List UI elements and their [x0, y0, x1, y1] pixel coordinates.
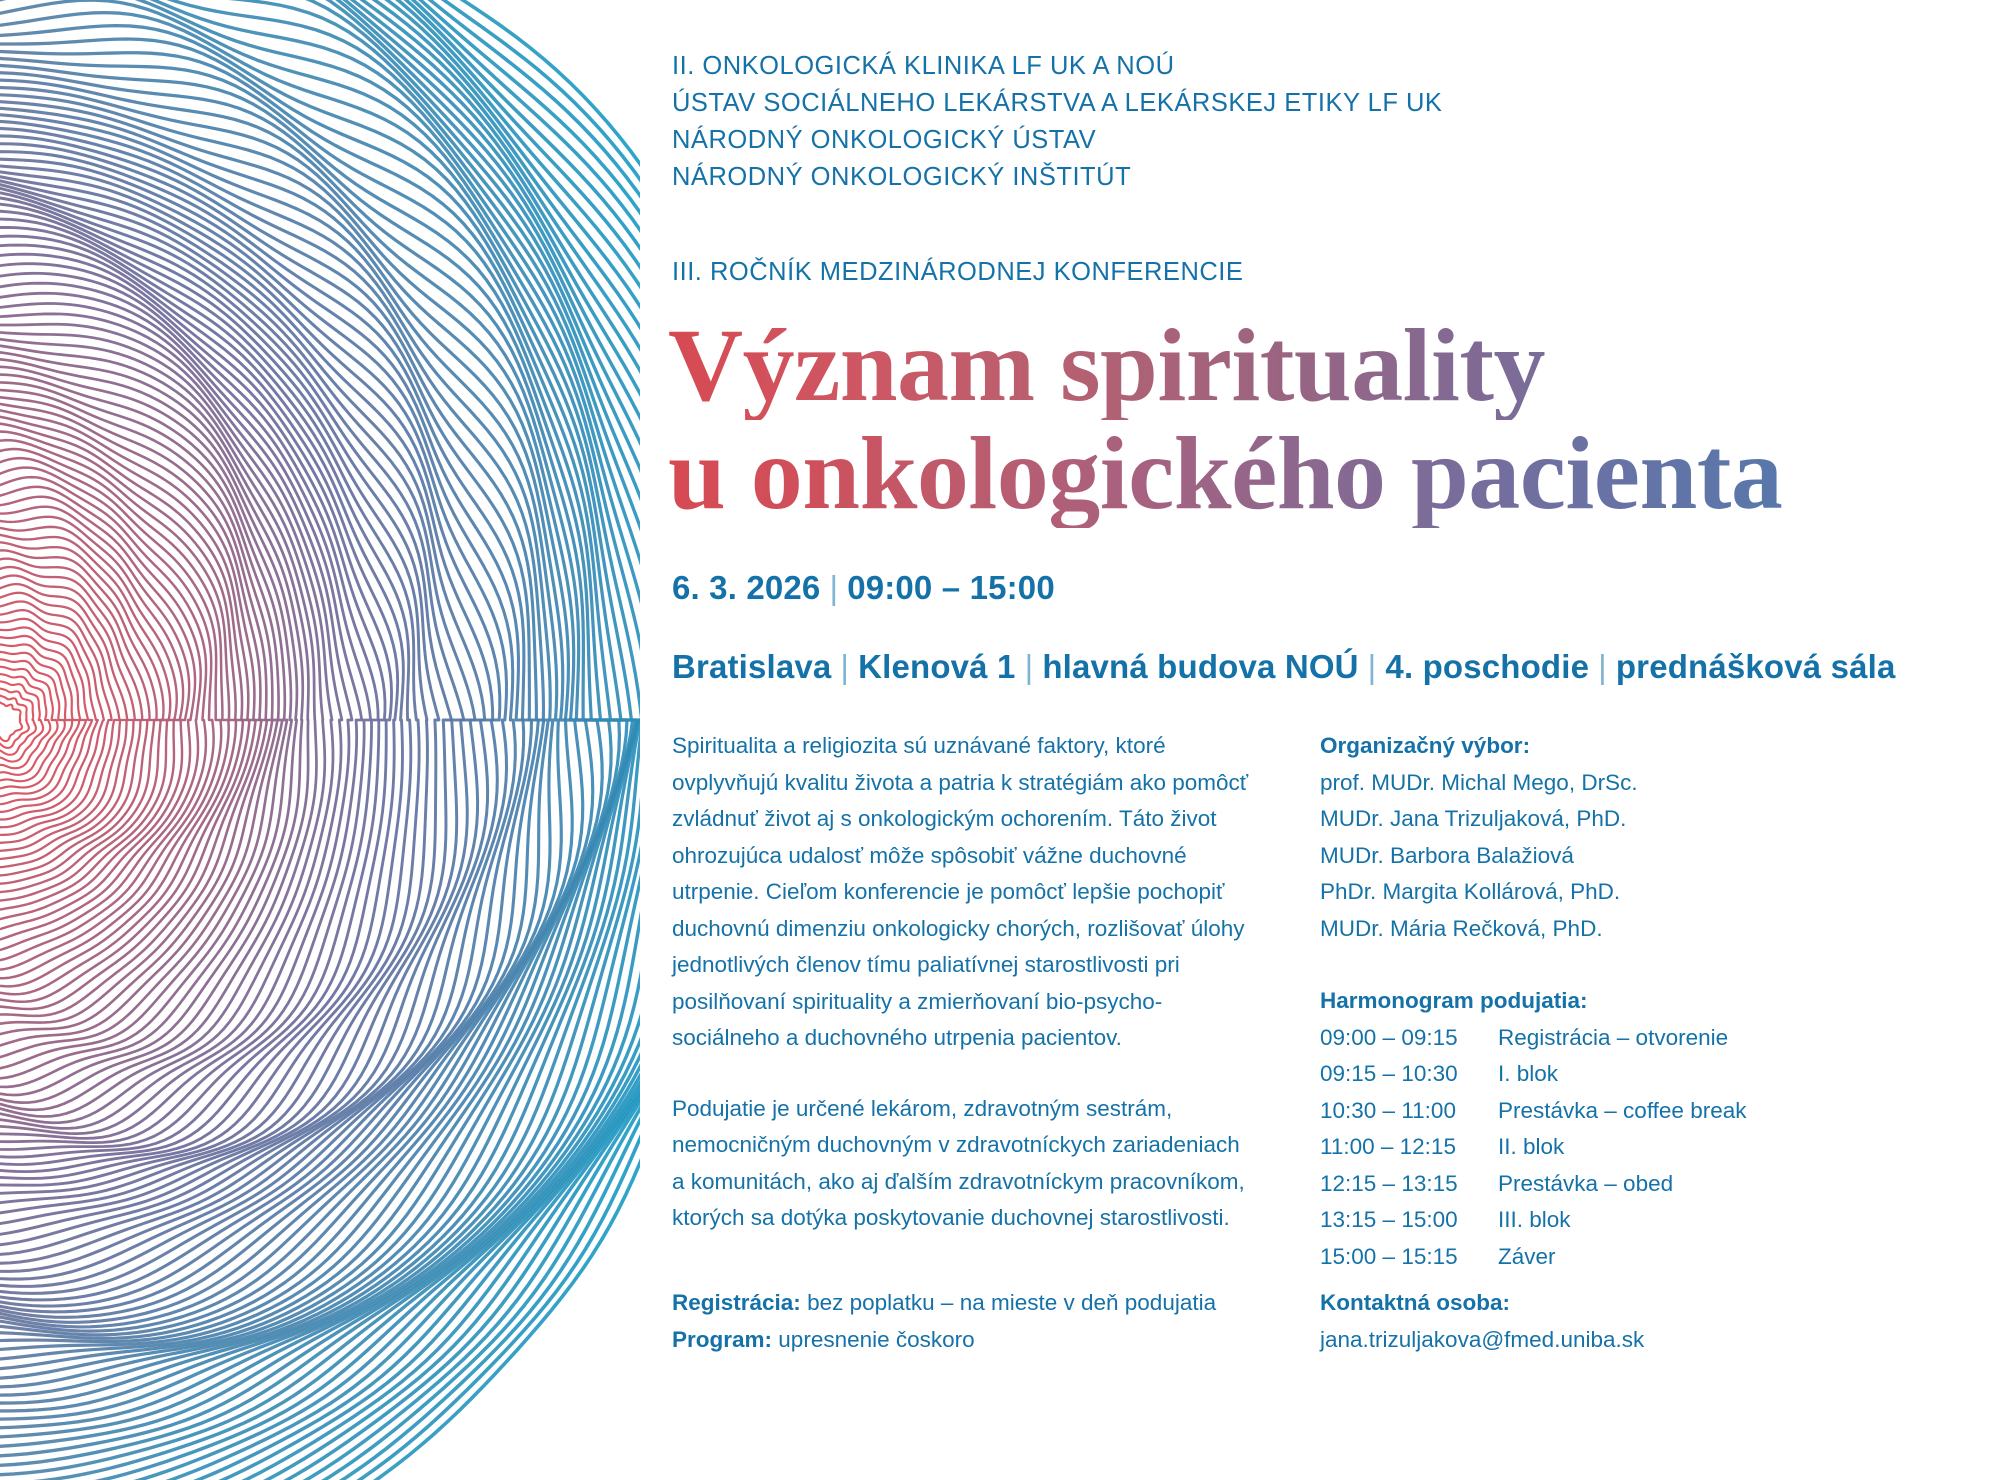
- venue-street: Klenová 1: [858, 648, 1015, 685]
- event-schedule: Harmonogram podujatia: 09:00 – 09:15Regi…: [1320, 983, 1910, 1275]
- committee-member: prof. MUDr. Michal Mego, DrSc.: [1320, 765, 1910, 802]
- registration-info: Registrácia: bez poplatku – na mieste v …: [672, 1284, 1272, 1358]
- schedule-heading: Harmonogram podujatia:: [1320, 983, 1910, 1020]
- venue-separator-icon-4: |: [1589, 648, 1616, 686]
- page-title: Význam spirituality u onkologického paci…: [668, 312, 1918, 528]
- venue-building: hlavná budova NOÚ: [1042, 648, 1358, 685]
- venue-city: Bratislava: [672, 648, 831, 685]
- schedule-row: 09:00 – 09:15Registrácia – otvorenie: [1320, 1020, 1910, 1057]
- schedule-label: Záver: [1498, 1244, 1556, 1269]
- program-line: Program: upresnenie čoskoro: [672, 1321, 1272, 1358]
- details-column: Organizačný výbor: prof. MUDr. Michal Me…: [1320, 728, 1910, 1275]
- schedule-time: 10:30 – 11:00: [1320, 1093, 1498, 1130]
- schedule-label: II. blok: [1498, 1134, 1564, 1159]
- schedule-row: 09:15 – 10:30I. blok: [1320, 1056, 1910, 1093]
- contact-heading: Kontaktná osoba:: [1320, 1290, 1510, 1315]
- contact-info: Kontaktná osoba: jana.trizuljakova@fmed.…: [1320, 1284, 1920, 1358]
- schedule-label: I. blok: [1498, 1061, 1558, 1086]
- committee-member: PhDr. Margita Kollárová, PhD.: [1320, 874, 1910, 911]
- datetime-separator-icon: |: [820, 569, 847, 607]
- program-value: upresnenie čoskoro: [778, 1327, 974, 1352]
- venue-separator-icon-2: |: [1016, 648, 1043, 686]
- title-line-2: u onkologického pacienta: [668, 420, 1918, 528]
- schedule-time: 09:00 – 09:15: [1320, 1020, 1498, 1057]
- schedule-label: Prestávka – coffee break: [1498, 1098, 1746, 1123]
- schedule-time: 12:15 – 13:15: [1320, 1166, 1498, 1203]
- organizer-line-4: NÁRODNÝ ONKOLOGICKÝ INŠTITÚT: [672, 159, 1912, 196]
- schedule-row: 11:00 – 12:15II. blok: [1320, 1129, 1910, 1166]
- schedule-label: Prestávka – obed: [1498, 1171, 1673, 1196]
- schedule-time: 09:15 – 10:30: [1320, 1056, 1498, 1093]
- registration-label: Registrácia:: [672, 1290, 801, 1315]
- decorative-wave-artwork: [0, 0, 640, 1480]
- committee-heading: Organizačný výbor:: [1320, 728, 1910, 765]
- contact-email[interactable]: jana.trizuljakova@fmed.uniba.sk: [1320, 1321, 1920, 1358]
- schedule-time: 11:00 – 12:15: [1320, 1129, 1498, 1166]
- title-line-1: Význam spirituality: [668, 312, 1918, 420]
- description-paragraph-2: Podujatie je určené lekárom, zdravotným …: [672, 1091, 1252, 1237]
- organizing-committee: Organizačný výbor: prof. MUDr. Michal Me…: [1320, 728, 1910, 947]
- conference-edition-kicker: III. ROČNÍK MEDZINÁRODNEJ KONFERENCIE: [672, 258, 1243, 287]
- event-datetime: 6. 3. 2026|09:00 – 15:00: [672, 569, 1055, 607]
- program-label: Program:: [672, 1327, 772, 1352]
- venue-separator-icon-3: |: [1359, 648, 1386, 686]
- organizer-line-1: II. ONKOLOGICKÁ KLINIKA LF UK A NOÚ: [672, 48, 1912, 85]
- venue-floor: 4. poschodie: [1385, 648, 1589, 685]
- event-venue: Bratislava|Klenová 1|hlavná budova NOÚ|4…: [672, 648, 1896, 686]
- event-time: 09:00 – 15:00: [847, 569, 1055, 606]
- schedule-row: 12:15 – 13:15Prestávka – obed: [1320, 1166, 1910, 1203]
- schedule-time: 15:00 – 15:15: [1320, 1239, 1498, 1276]
- schedule-row: 15:00 – 15:15Záver: [1320, 1239, 1910, 1276]
- event-date: 6. 3. 2026: [672, 569, 820, 606]
- schedule-row: 13:15 – 15:00III. blok: [1320, 1202, 1910, 1239]
- venue-separator-icon-1: |: [831, 648, 858, 686]
- schedule-label: III. blok: [1498, 1207, 1571, 1232]
- contact-heading-line: Kontaktná osoba:: [1320, 1284, 1920, 1321]
- description-column: Spiritualita a religiozita sú uznávané f…: [672, 728, 1252, 1271]
- organizer-line-3: NÁRODNÝ ONKOLOGICKÝ ÚSTAV: [672, 122, 1912, 159]
- committee-member: MUDr. Jana Trizuljaková, PhD.: [1320, 801, 1910, 838]
- section-spacer: [1320, 947, 1910, 983]
- organizer-line-2: ÚSTAV SOCIÁLNEHO LEKÁRSTVA A LEKÁRSKEJ E…: [672, 85, 1912, 122]
- committee-member: MUDr. Mária Rečková, PhD.: [1320, 911, 1910, 948]
- organizer-list: II. ONKOLOGICKÁ KLINIKA LF UK A NOÚ ÚSTA…: [672, 48, 1912, 196]
- registration-line: Registrácia: bez poplatku – na mieste v …: [672, 1284, 1272, 1321]
- description-paragraph-1: Spiritualita a religiozita sú uznávané f…: [672, 728, 1252, 1057]
- committee-member: MUDr. Barbora Balažiová: [1320, 838, 1910, 875]
- poster-content: II. ONKOLOGICKÁ KLINIKA LF UK A NOÚ ÚSTA…: [672, 0, 1912, 1414]
- schedule-time: 13:15 – 15:00: [1320, 1202, 1498, 1239]
- registration-value: bez poplatku – na mieste v deň podujatia: [807, 1290, 1216, 1315]
- schedule-label: Registrácia – otvorenie: [1498, 1025, 1728, 1050]
- schedule-row: 10:30 – 11:00Prestávka – coffee break: [1320, 1093, 1910, 1130]
- venue-room: prednášková sála: [1616, 648, 1896, 685]
